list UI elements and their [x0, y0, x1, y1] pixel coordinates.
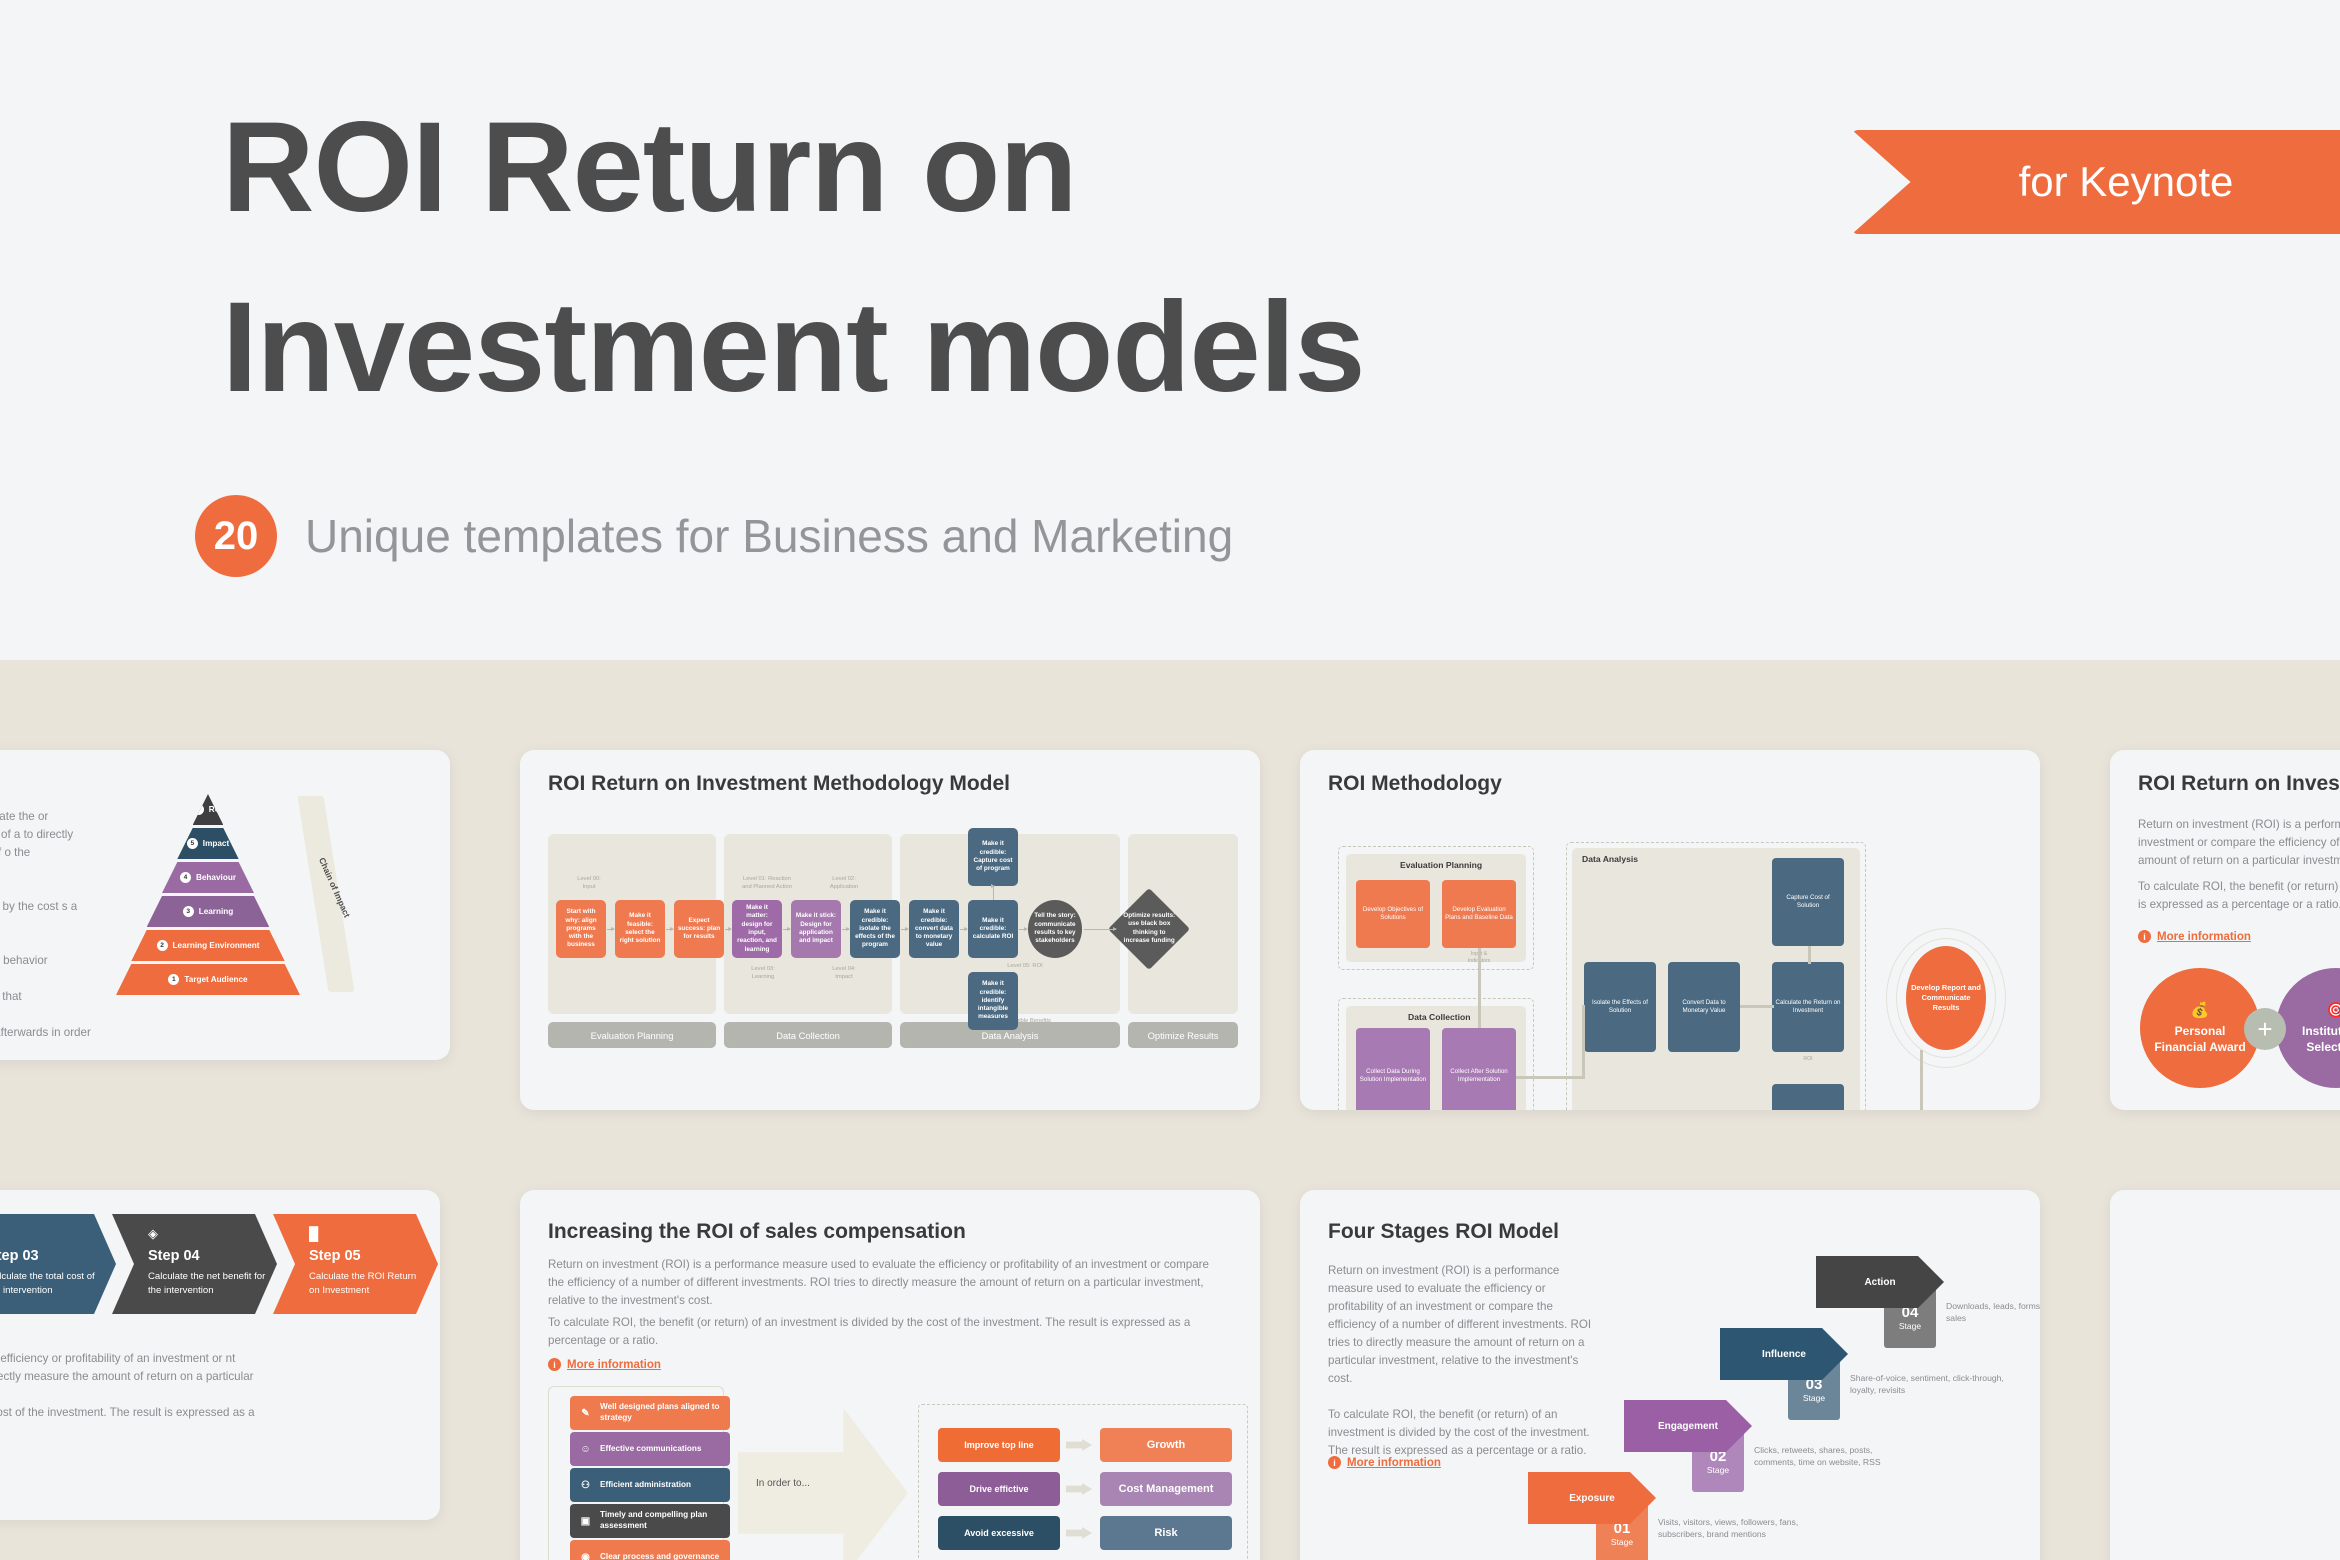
arrow-5	[842, 929, 849, 930]
template-gallery: measure used to evaluate the or compare …	[0, 660, 2340, 1560]
card1-p2: n investment is divided by the cost s a …	[0, 898, 92, 934]
driver-label: Effective communications	[600, 1444, 701, 1455]
pyramid-level-label: Learning Environment	[173, 941, 260, 950]
pyramid-level-number: 2	[157, 940, 168, 951]
card6-title: Increasing the ROI of sales compensation	[548, 1220, 966, 1244]
level-label-03: Level 03: Learning	[728, 966, 798, 982]
node-identify-intangible-3[interactable]: Identify Intangible	[1772, 1084, 1844, 1110]
template-count-badge: 20	[195, 495, 277, 577]
outcome-result-3[interactable]: Risk	[1100, 1516, 1232, 1550]
card7-body: Return on investment (ROI) is a performa…	[1328, 1262, 1598, 1460]
driver-label: Timely and compelling plan assessment	[600, 1510, 722, 1531]
card5-p1: easure used to evaluate the efficiency o…	[0, 1350, 274, 1386]
node-capture-cost[interactable]: Make it credible: Capture cost of progra…	[968, 828, 1018, 886]
stage-metrics-03: Share-of-voice, sentiment, click-through…	[1850, 1372, 2010, 1397]
group-label-evaluation-planning: Evaluation Planning	[1400, 860, 1482, 870]
card4-title: ROI Return on Investment M	[2138, 772, 2340, 796]
card1-body: measure used to evaluate the or compare …	[0, 808, 92, 1060]
node-capture-cost-solution[interactable]: Capture Cost of Solution	[1772, 858, 1844, 946]
node-calculate-return[interactable]: Calculate the Return on Investment	[1772, 962, 1844, 1052]
card1-p4: nt and hospitality, such that	[0, 988, 92, 1006]
pyramid-level-label: Learning	[199, 907, 234, 916]
level-label-04: Level 04: Impact	[812, 966, 876, 982]
sales-driver-4[interactable]: ▣Timely and compelling plan assessment	[570, 1504, 730, 1538]
sales-driver-1[interactable]: ✎Well designed plans aligned to strategy	[570, 1396, 730, 1430]
driver-icon: ◉	[578, 1550, 593, 1560]
node-start-with-why[interactable]: Start with why: align programs with the …	[556, 900, 606, 958]
outcome-result-1[interactable]: Growth	[1100, 1428, 1232, 1462]
card-roi-methodology-model[interactable]: ROI Return on Investment Methodology Mod…	[520, 750, 1260, 1110]
driver-icon: ☺	[578, 1442, 593, 1457]
card3-title: ROI Methodology	[1328, 772, 1502, 796]
pyramid-level-label: Impact	[203, 839, 229, 848]
pyramid-level-number: 6	[193, 804, 204, 815]
level-label-02: Level 02: Application	[812, 876, 876, 892]
caption-roi: ROI	[1772, 1056, 1844, 1063]
info-icon: i	[1328, 1456, 1341, 1469]
card5-body: easure used to evaluate the efficiency o…	[0, 1350, 274, 1422]
card-layered-roi-pyramid[interactable]: 5ROI4Impact3Behaviour2Learning1Learning …	[2110, 1190, 2340, 1560]
arrow-7	[960, 929, 967, 930]
driver-icon: ⚇	[578, 1478, 593, 1493]
arrow-3	[725, 929, 731, 930]
node-isolate-effects-solution[interactable]: Isolate the Effects of Solution	[1584, 962, 1656, 1052]
step-description: Calculate the total cost of the interven…	[0, 1270, 107, 1298]
pyramid-level-number: 4	[180, 872, 191, 883]
outcome-driver-1[interactable]: Improve top line	[938, 1428, 1060, 1462]
node-expect-success[interactable]: Expect success: plan for results	[674, 900, 724, 958]
pyramid-level-label: Target Audience	[184, 975, 247, 984]
step-arrow-3[interactable]: ⛁Step 03Calculate the total cost of the …	[0, 1214, 116, 1314]
card5-p2: vestment is divided by the cost of the i…	[0, 1404, 274, 1422]
driver-icon: ▣	[578, 1514, 593, 1529]
connector-to-report-vertical	[1920, 1050, 1923, 1110]
node-isolate-effects[interactable]: Make it credible: isolate the effects of…	[850, 900, 900, 958]
card1-p1: measure used to evaluate the or compare …	[0, 808, 92, 880]
connector-eval-to-collect	[1478, 948, 1481, 1028]
card7-p2: To calculate ROI, the benefit (or return…	[1328, 1406, 1598, 1460]
lane-foot-evaluation-planning: Evaluation Planning	[548, 1022, 716, 1048]
info-icon: i	[548, 1358, 561, 1371]
outcome-result-2[interactable]: Cost Management	[1100, 1472, 1232, 1506]
step-arrow-4[interactable]: ◈Step 04Calculate the net benefit for th…	[112, 1214, 277, 1314]
arrow-2	[666, 929, 673, 930]
step-arrow-5[interactable]: █Step 05Calculate the ROI Return on Inve…	[273, 1214, 438, 1314]
stage-metrics-04: Downloads, leads, forms, proposals, sale…	[1946, 1300, 2040, 1325]
node-calculate-roi[interactable]: Make it credible: calculate ROI	[968, 900, 1018, 958]
card6-p1: Return on investment (ROI) is a performa…	[548, 1256, 1228, 1310]
card-roi-steps[interactable]: ⚖Step 02e effects vention ary value⛁Step…	[0, 1190, 440, 1520]
pyramid-level-2[interactable]: 2Learning Environment	[131, 930, 284, 961]
step-number: Step 04	[148, 1248, 200, 1264]
venn-circle-2-label: Institutional Selectivity	[2302, 1024, 2340, 1055]
level-label-01: Level 01: Reaction and Planned Action	[728, 876, 806, 892]
arrow-4	[783, 929, 790, 930]
step-description: Calculate the net benefit for the interv…	[148, 1270, 268, 1298]
card-roi-methodology[interactable]: ROI Methodology Evaluation Planning Data…	[1300, 750, 2040, 1110]
group-label-data-analysis: Data Analysis	[1582, 854, 1638, 864]
lane-foot-optimize-results: Optimize Results	[1128, 1022, 1238, 1048]
card4-p1: Return on investment (ROI) is a performa…	[2138, 816, 2340, 870]
pyramid-level-5[interactable]: 5Impact	[177, 828, 238, 859]
stage-sub: Stage	[1611, 1537, 1633, 1547]
card6-diagram: ✎Well designed plans aligned to strategy…	[548, 1386, 1208, 1560]
venn-circle-personal-financial-award[interactable]: 💰 Personal Financial Award	[2140, 968, 2260, 1088]
driver-label: Efficient administration	[600, 1480, 691, 1491]
card1-p3: ortunity to change their behavior	[0, 952, 92, 970]
pyramid-level-4[interactable]: 4Behaviour	[162, 862, 254, 893]
step-number: Step 03	[0, 1248, 39, 1264]
node-develop-report[interactable]: Develop Report and Communicate Results	[1906, 946, 1986, 1050]
node-optimize-results-label: Optimize results: use black box thinking…	[1123, 912, 1175, 945]
stage-sub: Stage	[1899, 1321, 1921, 1331]
card1-p5: nge their behavior? e afterwards in orde…	[0, 1024, 92, 1060]
card-roi-return-venn[interactable]: ROI Return on Investment M Return on inv…	[2110, 750, 2340, 1110]
driver-label: Well designed plans aligned to strategy	[600, 1402, 722, 1423]
pyramid-level-number: 3	[183, 906, 194, 917]
plus-label: +	[2257, 1014, 2272, 1045]
card2-title: ROI Return on Investment Methodology Mod…	[548, 772, 1010, 796]
connector-collect-to-analysis	[1516, 1076, 1584, 1079]
pyramid-level-label: ROI	[209, 805, 224, 814]
stage-arrow-influence[interactable]: Influence	[1720, 1328, 1848, 1380]
arrow-6	[901, 929, 908, 930]
sales-driver-3[interactable]: ⚇Efficient administration	[570, 1468, 730, 1502]
card7-title: Four Stages ROI Model	[1328, 1220, 1559, 1244]
info-icon: i	[2138, 930, 2151, 943]
arrow-down	[993, 886, 994, 900]
node-develop-eval-plans[interactable]: Develop Evaluation Plans and Baseline Da…	[1442, 880, 1516, 948]
group-label-data-collection: Data Collection	[1408, 1012, 1471, 1022]
pyramid-level-label: Behaviour	[196, 873, 236, 882]
target-icon: 🎯	[2327, 1001, 2340, 1021]
stage-arrow-action[interactable]: Action	[1816, 1256, 1944, 1308]
arrow-9	[1084, 929, 1116, 930]
connector-vertical-1	[1582, 1005, 1585, 1079]
stage-sub: Stage	[1707, 1465, 1729, 1475]
node-make-it-stick[interactable]: Make it stick: Design for application an…	[791, 900, 841, 958]
pyramid-diagram: Chain of Impact 6ROI5Impact4Behaviour3Le…	[108, 790, 398, 1030]
step-icon: ◈	[148, 1226, 158, 1242]
driver-label: Clear process and governance	[600, 1552, 719, 1560]
pyramid-level-1[interactable]: 1Target Audience	[116, 964, 300, 995]
node-collect-after[interactable]: Collect After Solution Implementation	[1442, 1028, 1516, 1110]
for-keynote-ribbon: for Keynote	[1852, 130, 2340, 234]
node-develop-objectives[interactable]: Develop Objectives of Solutions	[1356, 880, 1430, 948]
level-label-05: Level 05: ROI	[990, 963, 1060, 971]
card-chain-of-impact-pyramid[interactable]: measure used to evaluate the or compare …	[0, 750, 450, 1060]
hero-section: ROI Return on Investment models 20 Uniqu…	[0, 0, 2340, 660]
card-four-stages-roi-model[interactable]: Four Stages ROI Model Return on investme…	[1300, 1190, 2040, 1560]
lane-foot-data-collection: Data Collection	[724, 1022, 892, 1048]
node-convert-data[interactable]: Make it credible: convert data to moneta…	[909, 900, 959, 958]
outcome-driver-3[interactable]: Avoid excessive	[938, 1516, 1060, 1550]
driver-icon: ✎	[578, 1406, 593, 1421]
card4-p2: To calculate ROI, the benefit (or return…	[2138, 878, 2340, 914]
node-identify-intangible[interactable]: Make it credible: identify intangible me…	[968, 972, 1018, 1030]
stage-metrics-02: Clicks, retweets, shares, posts, comment…	[1754, 1444, 1914, 1469]
pyramid-level-3[interactable]: 3Learning	[147, 896, 270, 927]
outcome-driver-2[interactable]: Drive effictive	[938, 1472, 1060, 1506]
card7-more-information-link[interactable]: i More information	[1328, 1456, 1441, 1469]
pyramid-level-6[interactable]: 6ROI	[193, 794, 224, 825]
card4-more-information-link[interactable]: i More information	[2138, 930, 2251, 943]
step-icon: █	[309, 1226, 318, 1241]
pyramid-level-number: 5	[187, 838, 198, 849]
ribbon-label: for Keynote	[1959, 158, 2234, 206]
step-number: Step 05	[309, 1248, 361, 1264]
in-order-to-label: In order to...	[756, 1478, 810, 1489]
subtitle-row: 20 Unique templates for Business and Mar…	[195, 495, 1233, 577]
title-line-1: ROI Return on	[222, 96, 1077, 239]
node-collect-during[interactable]: Collect Data During Solution Implementat…	[1356, 1028, 1430, 1110]
level-label-00: Level 00: Input	[554, 876, 624, 892]
plus-icon: +	[2244, 1008, 2286, 1050]
piggy-bank-icon: 💰	[2191, 1001, 2210, 1021]
stage-arrow-exposure[interactable]: Exposure	[1528, 1472, 1656, 1524]
card6-p2: To calculate ROI, the benefit (or return…	[548, 1314, 1228, 1350]
stage-sub: Stage	[1803, 1393, 1825, 1403]
card7-p1: Return on investment (ROI) is a performa…	[1328, 1262, 1598, 1388]
venn-circle-1-label: Personal Financial Award	[2154, 1024, 2245, 1055]
card7-more-label: More information	[1347, 1457, 1441, 1469]
connector-an2-to-an4	[1740, 1005, 1774, 1008]
stage-metrics-01: Visits, visitors, views, followers, fans…	[1658, 1516, 1818, 1541]
card6-more-label: More information	[567, 1359, 661, 1371]
node-tell-the-story[interactable]: Tell the story: communicate results to k…	[1028, 900, 1082, 958]
page-title: ROI Return on Investment models	[222, 104, 1622, 412]
sales-driver-2[interactable]: ☺Effective communications	[570, 1432, 730, 1466]
node-make-it-matter[interactable]: Make it matter: design for input, reacti…	[732, 900, 782, 958]
pyramid-level-number: 1	[168, 974, 179, 985]
card6-more-information-link[interactable]: i More information	[548, 1358, 661, 1371]
card-increasing-roi-sales-compensation[interactable]: Increasing the ROI of sales compensation…	[520, 1190, 1260, 1560]
node-make-it-feasible[interactable]: Make it feasible: select the right solut…	[615, 900, 665, 958]
subtitle-text: Unique templates for Business and Market…	[305, 509, 1233, 563]
title-line-2: Investment models	[222, 284, 1622, 412]
stage-arrow-engagement[interactable]: Engagement	[1624, 1400, 1752, 1452]
arrow-1	[607, 929, 614, 930]
arrow-8	[1019, 929, 1027, 930]
step-description: Calculate the ROI Return on Investment	[309, 1270, 429, 1298]
connector-cost-to-calc	[1808, 946, 1811, 964]
chain-of-impact-bar	[297, 796, 354, 992]
card4-more-label: More information	[2157, 931, 2251, 943]
sales-driver-5[interactable]: ◉Clear process and governance	[570, 1540, 730, 1560]
node-convert-data-monetary[interactable]: Convert Data to Monetary Value	[1668, 962, 1740, 1052]
